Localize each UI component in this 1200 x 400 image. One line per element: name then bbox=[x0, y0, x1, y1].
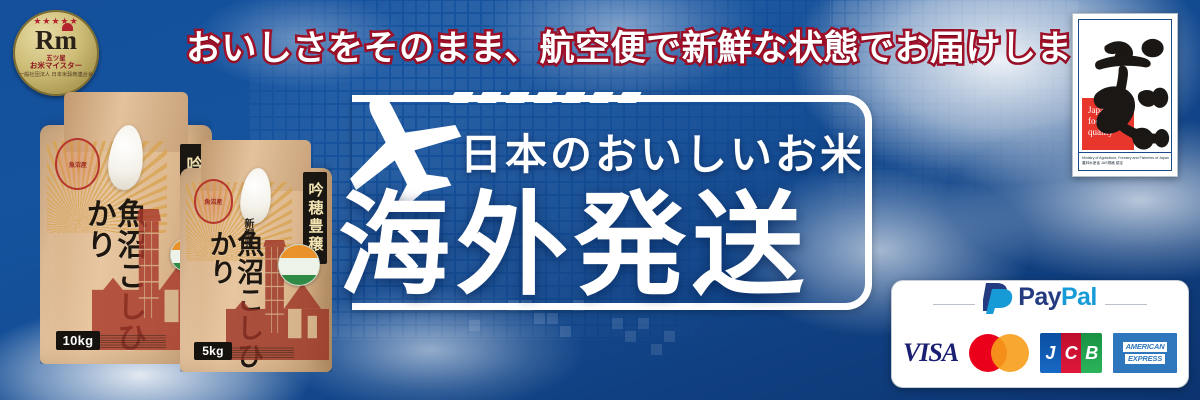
paypal-row: PayPal bbox=[892, 281, 1188, 327]
banner-headline: おいしさをそのまま、航空便で新鮮な状態でお届けします。 bbox=[186, 26, 1016, 72]
jas-inner-frame: Japanese food quality bbox=[1078, 19, 1172, 171]
bag-special-cultivation-sticker bbox=[278, 244, 320, 286]
mastercard-orange-circle bbox=[991, 334, 1029, 372]
jcb-letter-j: J bbox=[1040, 333, 1061, 373]
divider-left bbox=[933, 304, 975, 305]
jcb-letter-c: C bbox=[1061, 333, 1082, 373]
dashed-trail-icon bbox=[452, 92, 662, 104]
visa-logo: VISA bbox=[903, 338, 958, 368]
amex-line1: AMERICAN bbox=[1123, 342, 1168, 352]
bag-fine-print bbox=[94, 334, 166, 348]
bag-seal-stamp: 魚沼産 bbox=[55, 138, 100, 190]
amex-line2: EXPRESS bbox=[1125, 354, 1165, 364]
main-title: 海外発送 bbox=[338, 183, 898, 308]
rice-bag-5kg: 魚沼産 吟穂豊穣 新潟県 魚沼こしひかり bbox=[180, 140, 332, 372]
rice-meister-emblem: ★★★★★ Rm 五ツ星 お米マイスター 一般社団法人 日本米穀商連合会 bbox=[13, 10, 99, 96]
bag-seal-stamp: 魚沼産 bbox=[194, 179, 234, 223]
amex-logo: AMERICAN EXPRESS bbox=[1113, 333, 1177, 373]
divider-right bbox=[1105, 304, 1147, 305]
paypal-word-pay: Pay bbox=[1018, 283, 1061, 311]
payment-methods-panel: PayPal VISA J C B AMERICAN EXPRESS bbox=[891, 280, 1189, 388]
paypal-word-pal: Pal bbox=[1061, 283, 1097, 311]
jcb-letter-b: B bbox=[1081, 333, 1102, 373]
mastercard-logo bbox=[969, 334, 1029, 372]
bag-weight-label: 10kg bbox=[56, 331, 100, 350]
paypal-mark-icon bbox=[983, 280, 1013, 314]
oishii-brush-character-icon bbox=[1079, 20, 1171, 170]
card-brand-row: VISA J C B AMERICAN EXPRESS bbox=[892, 325, 1188, 381]
emblem-line2: お米マイスター bbox=[30, 62, 82, 70]
jas-footer: Ministry of Agriculture, Forestry and Fi… bbox=[1079, 152, 1171, 170]
overseas-shipping-banner: ★★★★★ Rm 五ツ星 お米マイスター 一般社団法人 日本米穀商連合会 おいし… bbox=[0, 0, 1200, 400]
jcb-logo: J C B bbox=[1040, 333, 1102, 373]
japanese-food-quality-mark: Japanese food quality bbox=[1072, 13, 1178, 177]
jas-footer-jp: 農林水産省 JAS規格 認定 bbox=[1082, 161, 1169, 166]
sub-title: 日本のおいしいお米 bbox=[460, 129, 880, 181]
emblem-monogram: Rm bbox=[35, 27, 77, 54]
bag-weight-label: 5kg bbox=[194, 342, 232, 360]
paypal-wordmark: PayPal bbox=[1018, 283, 1096, 312]
bag-fine-print bbox=[228, 346, 294, 358]
emblem-line3: 一般社団法人 日本米穀商連合会 bbox=[19, 72, 93, 78]
paypal-logo: PayPal bbox=[983, 280, 1096, 314]
